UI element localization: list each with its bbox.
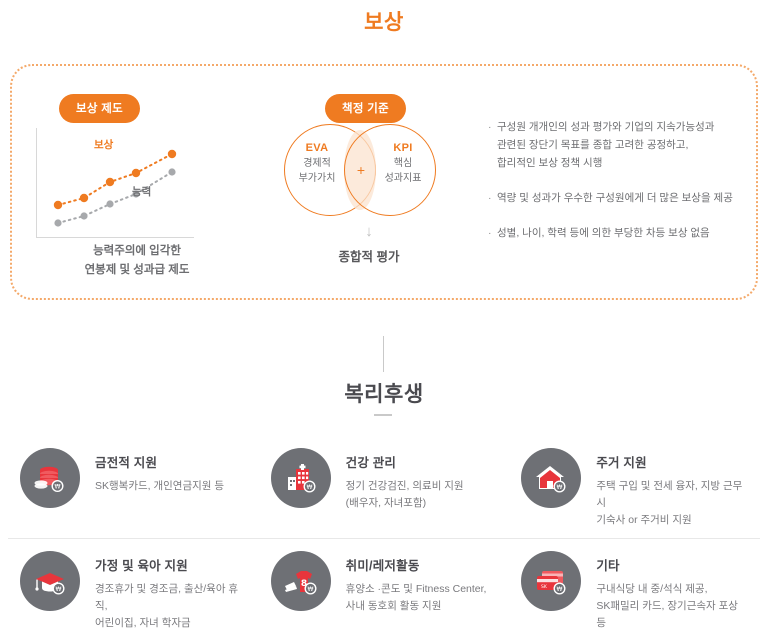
card-text: 주거 지원 주택 구입 및 전세 융자, 지방 근무 시 기숙사 or 주거비 … xyxy=(596,448,750,529)
venn-kpi-sub-line2: 성과지표 xyxy=(358,172,448,187)
title-underline-dash xyxy=(374,414,392,416)
welfare-card-family[interactable]: ₩ 가정 및 육아 지원 경조휴가 및 경조금, 출산/육아 휴직, 어린이집,… xyxy=(8,539,259,637)
card-desc-line: 사내 동호회 활동 지원 xyxy=(346,598,487,615)
section-connector-line xyxy=(383,336,384,372)
bullet-line: 합리적인 보상 정책 시행 xyxy=(497,154,744,172)
reward-system-badge: 보상 제도 xyxy=(59,94,140,123)
bullet-marker-icon: · xyxy=(488,118,492,136)
chart-point xyxy=(80,212,87,219)
card-title: 가정 및 육아 지원 xyxy=(95,555,249,574)
card-text: 가정 및 육아 지원 경조휴가 및 경조금, 출산/육아 휴직, 어린이집, 자… xyxy=(95,551,249,632)
benefits-infographic-page: 보상 보상 제도 xyxy=(0,0,768,637)
bullet-line: 관련된 장단기 목표를 종합 고려한 공정하고, xyxy=(497,136,744,154)
venn-diagram: EVA 경제적 부가가치 KPI 핵심 성과지표 + xyxy=(284,124,454,216)
bullet-marker-icon: · xyxy=(488,224,492,242)
welfare-section-title: 복리후생 xyxy=(0,378,768,408)
credit-cards-icon: SK ₩ xyxy=(521,551,581,611)
chart-point xyxy=(54,201,62,209)
chart-series-reward-line xyxy=(58,154,172,205)
chart-point xyxy=(54,219,61,226)
card-desc-line: 휴양소 ·콘도 및 Fitness Center, xyxy=(346,581,487,598)
venn-kpi-sub-line1: 핵심 xyxy=(358,157,448,172)
card-desc-line: 정기 건강검진, 의료비 지원 xyxy=(346,478,464,495)
chart-legend-ability: 능력 xyxy=(132,184,151,199)
card-desc-line: 어린이집, 자녀 학자금 xyxy=(95,615,249,632)
reward-system-block: 보상 제도 xyxy=(12,66,272,298)
svg-text:₩: ₩ xyxy=(306,484,312,491)
chart-legend-reward: 보상 xyxy=(94,137,113,152)
chart-point xyxy=(132,169,140,177)
svg-text:₩: ₩ xyxy=(55,484,61,491)
card-text: 건강 관리 정기 건강검진, 의료비 지원 (배우자, 자녀포함) xyxy=(346,448,464,512)
bullet-line: 역량 및 성과가 우수한 구성원에게 더 많은 보상을 제공 xyxy=(497,189,744,207)
card-desc-line: 주택 구입 및 전세 융자, 지방 근무 시 xyxy=(596,478,750,512)
venn-plus-symbol: + xyxy=(354,162,368,178)
bullet-line: 성별, 나이, 학력 등에 의한 부당한 차등 보상 없음 xyxy=(497,224,744,242)
card-description: SK행복카드, 개인연금지원 등 xyxy=(95,478,224,495)
caption-line-2: 연봉제 및 성과급 제도 xyxy=(12,261,262,280)
svg-text:₩: ₩ xyxy=(56,586,62,593)
sports-jersey-icon: 8 ₩ xyxy=(271,551,331,611)
card-desc-line: 경조휴가 및 경조금, 출산/육아 휴직, xyxy=(95,581,249,615)
welfare-card-grid: ₩ 금전적 지원 SK행복카드, 개인연금지원 등 xyxy=(8,436,760,637)
chart-point xyxy=(80,194,88,202)
card-title: 건강 관리 xyxy=(346,452,464,471)
venn-kpi-head: KPI xyxy=(358,142,448,154)
reward-criteria-badge: 책정 기준 xyxy=(325,94,406,123)
svg-text:₩: ₩ xyxy=(557,484,563,491)
caption-line-1: 능력주의에 입각한 xyxy=(12,242,262,261)
card-description: 주택 구입 및 전세 융자, 지방 근무 시 기숙사 or 주거비 지원 xyxy=(596,478,750,529)
hospital-building-icon: ₩ xyxy=(271,448,331,508)
bullet-item: · 역량 및 성과가 우수한 구성원에게 더 많은 보상을 제공 xyxy=(488,189,744,207)
reward-criteria-block: 책정 기준 EVA 경제적 부가가치 KPI 핵심 성과지표 xyxy=(264,66,479,298)
reward-policy-bullets: · 구성원 개개인의 성과 평가와 기업의 지속가능성과 관련된 장단기 목표를… xyxy=(488,118,744,242)
welfare-card-etc[interactable]: SK ₩ 기타 구내식당 내 중/석식 제공, SK패밀리 카드, 장기근속자 … xyxy=(509,539,760,637)
venn-result-label: 종합적 평가 xyxy=(264,246,474,265)
chart-plot xyxy=(36,128,194,238)
card-text: 기타 구내식당 내 중/석식 제공, SK패밀리 카드, 장기근속자 포상 등 xyxy=(596,551,750,632)
reward-panel: 보상 제도 xyxy=(10,64,758,300)
card-title: 기타 xyxy=(596,555,750,574)
welfare-card-housing[interactable]: ₩ 주거 지원 주택 구입 및 전세 융자, 지방 근무 시 기숙사 or 주거… xyxy=(509,436,760,539)
card-desc-line: 구내식당 내 중/석식 제공, xyxy=(596,581,750,598)
house-icon: ₩ xyxy=(521,448,581,508)
card-description: 정기 건강검진, 의료비 지원 (배우자, 자녀포함) xyxy=(346,478,464,512)
bullet-line: 구성원 개개인의 성과 평가와 기업의 지속가능성과 xyxy=(497,118,744,136)
chart-point xyxy=(106,200,113,207)
welfare-card-financial[interactable]: ₩ 금전적 지원 SK행복카드, 개인연금지원 등 xyxy=(8,436,259,539)
card-title: 취미/레저활동 xyxy=(346,555,487,574)
card-title: 주거 지원 xyxy=(596,452,750,471)
card-text: 금전적 지원 SK행복카드, 개인연금지원 등 xyxy=(95,448,224,495)
welfare-card-leisure[interactable]: 8 ₩ 취미/레저활동 휴양소 ·콘도 및 Fitness Center, 사내… xyxy=(259,539,510,637)
card-desc-line: SK패밀리 카드, 장기근속자 포상 등 xyxy=(596,598,750,632)
card-text: 취미/레저활동 휴양소 ·콘도 및 Fitness Center, 사내 동호회… xyxy=(346,551,487,615)
chart-point xyxy=(168,168,175,175)
reward-ability-line-chart: 보상 능력 xyxy=(36,128,194,238)
bullet-item: · 성별, 나이, 학력 등에 의한 부당한 차등 보상 없음 xyxy=(488,224,744,242)
welfare-card-health[interactable]: ₩ 건강 관리 정기 건강검진, 의료비 지원 (배우자, 자녀포함) xyxy=(259,436,510,539)
bullet-marker-icon: · xyxy=(488,189,492,207)
svg-text:₩: ₩ xyxy=(307,586,313,593)
card-desc-line: 기숙사 or 주거비 지원 xyxy=(596,512,750,529)
card-title: 금전적 지원 xyxy=(95,452,224,471)
reward-system-caption: 능력주의에 입각한 연봉제 및 성과급 제도 xyxy=(12,242,262,279)
coin-stack-icon: ₩ xyxy=(20,448,80,508)
card-description: 구내식당 내 중/석식 제공, SK패밀리 카드, 장기근속자 포상 등 xyxy=(596,581,750,632)
card-description: 휴양소 ·콘도 및 Fitness Center, 사내 동호회 활동 지원 xyxy=(346,581,487,615)
card-description: 경조휴가 및 경조금, 출산/육아 휴직, 어린이집, 자녀 학자금 xyxy=(95,581,249,632)
chart-point xyxy=(106,178,114,186)
card-desc-line: (배우자, 자녀포함) xyxy=(346,495,464,512)
down-arrow-icon: ↓ xyxy=(264,224,474,239)
svg-text:₩: ₩ xyxy=(557,586,563,593)
reward-section-title: 보상 xyxy=(0,6,768,36)
venn-kpi-sub: 핵심 성과지표 xyxy=(358,157,448,186)
card-desc-line: SK행복카드, 개인연금지원 등 xyxy=(95,478,224,495)
bullet-item: · 구성원 개개인의 성과 평가와 기업의 지속가능성과 관련된 장단기 목표를… xyxy=(488,118,744,172)
graduation-cap-icon: ₩ xyxy=(20,551,80,611)
chart-point xyxy=(168,150,176,158)
